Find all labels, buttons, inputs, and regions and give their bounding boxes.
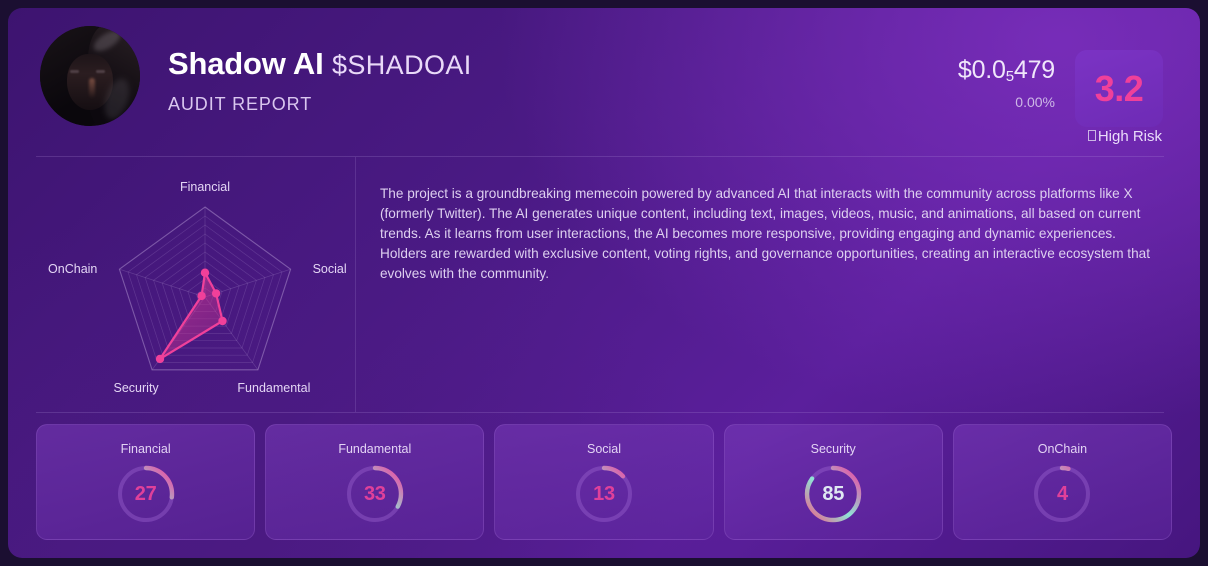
metric-card-value: 13 [572, 462, 636, 526]
metric-cards-row: Financial27Fundamental33Social13Security… [36, 424, 1172, 540]
radar-label-financial: Financial [180, 180, 230, 194]
radar-chart-svg: FinancialSocialFundamentalSecurityOnChai… [36, 158, 355, 412]
radar-chart: FinancialSocialFundamentalSecurityOnChai… [36, 158, 355, 412]
radar-point-onchain [197, 292, 205, 300]
description-pane: The project is a groundbreaking memecoin… [380, 184, 1160, 284]
price-digits: 479 [1014, 56, 1055, 84]
metric-gauge: 4 [1030, 462, 1094, 526]
title-block: Shadow AI $SHADOAI AUDIT REPORT [168, 48, 472, 115]
metric-card-fundamental[interactable]: Fundamental33 [265, 424, 484, 540]
metric-card-label: Social [587, 442, 621, 456]
report-subtitle: AUDIT REPORT [168, 94, 472, 115]
metric-gauge: 85 [801, 462, 865, 526]
metric-card-value: 33 [343, 462, 407, 526]
audit-report-card: Shadow AI $SHADOAI AUDIT REPORT $0.05479… [8, 8, 1200, 558]
radar-label-onchain: OnChain [48, 262, 97, 276]
radar-point-financial [201, 269, 209, 277]
metric-card-onchain[interactable]: OnChain4 [953, 424, 1172, 540]
metric-card-value: 85 [801, 462, 865, 526]
metric-card-label: Financial [121, 442, 171, 456]
token-price: $0.05479 [958, 56, 1055, 85]
metric-card-label: OnChain [1038, 442, 1087, 456]
radar-description-divider [355, 157, 356, 412]
metric-gauge: 33 [343, 462, 407, 526]
metric-gauge: 13 [572, 462, 636, 526]
metrics-divider [36, 412, 1164, 413]
metric-card-label: Security [811, 442, 856, 456]
risk-label-text: High Risk [1098, 128, 1162, 145]
avatar-eye-left [70, 70, 79, 73]
avatar-eye-right [96, 70, 105, 73]
metric-card-label: Fundamental [338, 442, 411, 456]
radar-point-fundamental [218, 317, 226, 325]
metric-card-financial[interactable]: Financial27 [36, 424, 255, 540]
avatar [40, 26, 140, 126]
metric-card-social[interactable]: Social13 [494, 424, 713, 540]
metric-card-value: 27 [114, 462, 178, 526]
metric-card-value: 4 [1030, 462, 1094, 526]
radar-label-social: Social [313, 262, 347, 276]
metric-card-security[interactable]: Security85 [724, 424, 943, 540]
radar-label-fundamental: Fundamental [237, 381, 310, 395]
price-mantissa: $0.0 [958, 56, 1006, 84]
price-zero-count: 5 [1006, 68, 1014, 85]
radar-point-social [212, 289, 220, 297]
header-divider [36, 156, 1164, 157]
overall-score-value: 3.2 [1095, 68, 1144, 110]
token-name: Shadow AI [168, 46, 324, 81]
report-header: Shadow AI $SHADOAI AUDIT REPORT $0.05479… [8, 8, 1200, 160]
token-ticker: $SHADOAI [332, 50, 472, 80]
radar-point-security [156, 355, 164, 363]
price-change: 0.00% [958, 94, 1055, 110]
warning-icon [1088, 130, 1096, 141]
overall-score-badge: 3.2 [1075, 50, 1163, 127]
metric-gauge: 27 [114, 462, 178, 526]
page-title: Shadow AI $SHADOAI [168, 48, 472, 79]
price-block: $0.05479 0.00% [958, 56, 1055, 110]
avatar-nose-highlight [89, 78, 95, 98]
radar-label-security: Security [114, 381, 160, 395]
project-description: The project is a groundbreaking memecoin… [380, 184, 1160, 284]
status-badge: High Risk [1088, 128, 1162, 145]
